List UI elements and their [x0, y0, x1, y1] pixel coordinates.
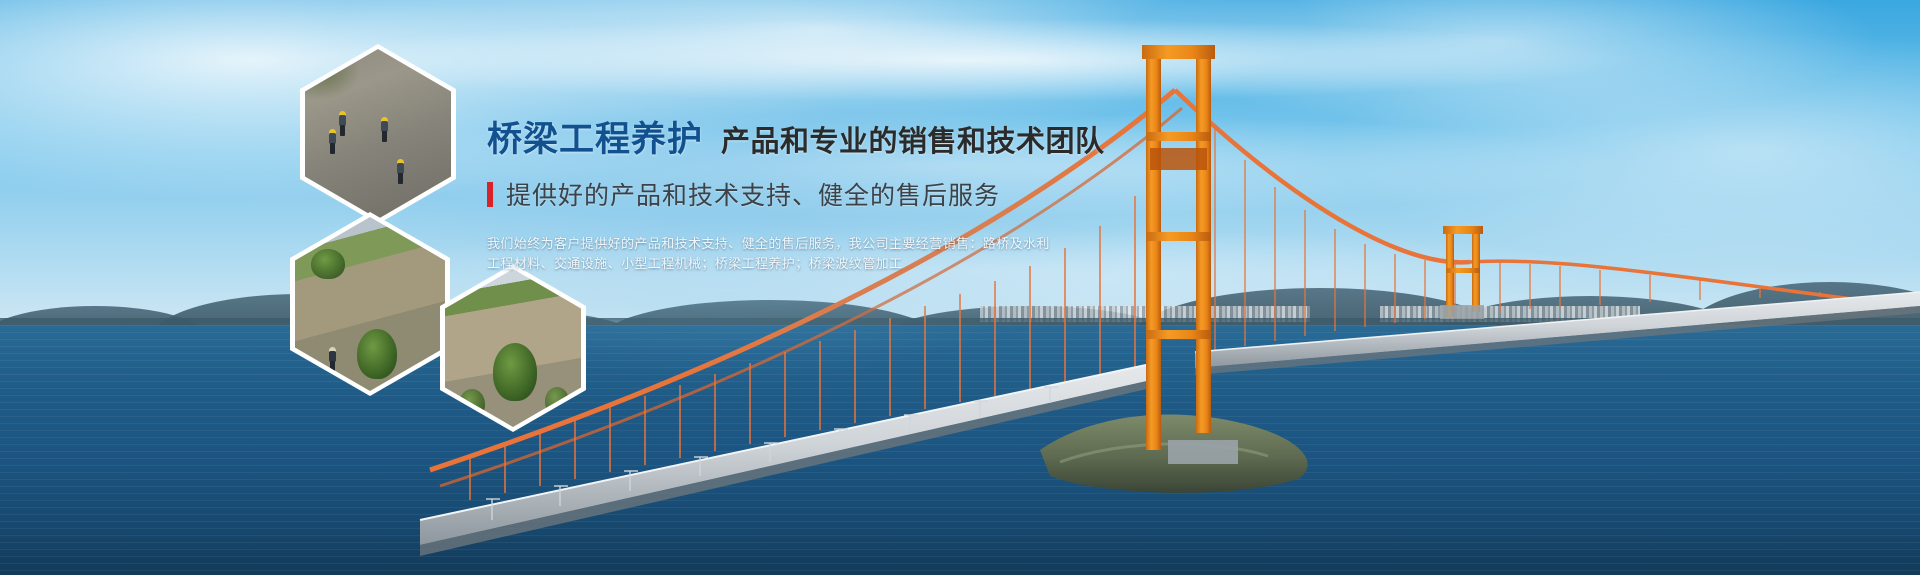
banner-paragraph: 我们始终为客户提供好的产品和技术支持、健全的售后服务，我公司主要经营销售：路桥及… [487, 234, 1187, 274]
hex-photo-hillside-mesh-slope [290, 212, 450, 396]
paragraph-line-1: 我们始终为客户提供好的产品和技术支持、健全的售后服务，我公司主要经营销售：路桥及… [487, 234, 1187, 254]
accent-bar-icon [487, 182, 493, 207]
banner-subheadline: 提供好的产品和技术支持、健全的售后服务 [487, 176, 1187, 212]
headline-primary: 桥梁工程养护 [487, 120, 703, 159]
banner-copy: 桥梁工程养护产品和专业的销售和技术团队 提供好的产品和技术支持、健全的售后服务 … [487, 122, 1187, 274]
hex-photo-rock-slope-mesh-installation [300, 44, 456, 224]
banner-headline: 桥梁工程养护产品和专业的销售和技术团队 [487, 122, 1187, 157]
hex-photo-slope-vegetation-mesh [440, 264, 586, 432]
hero-banner: 桥梁工程养护产品和专业的销售和技术团队 提供好的产品和技术支持、健全的售后服务 … [0, 0, 1920, 575]
paragraph-line-2: 工程材料、交通设施、小型工程机械；桥梁工程养护；桥梁波纹管加工 [487, 254, 1187, 274]
headline-secondary: 产品和专业的销售和技术团队 [721, 126, 1105, 158]
suspension-bridge [0, 0, 1920, 575]
subheadline-text: 提供好的产品和技术支持、健全的售后服务 [506, 176, 1000, 212]
